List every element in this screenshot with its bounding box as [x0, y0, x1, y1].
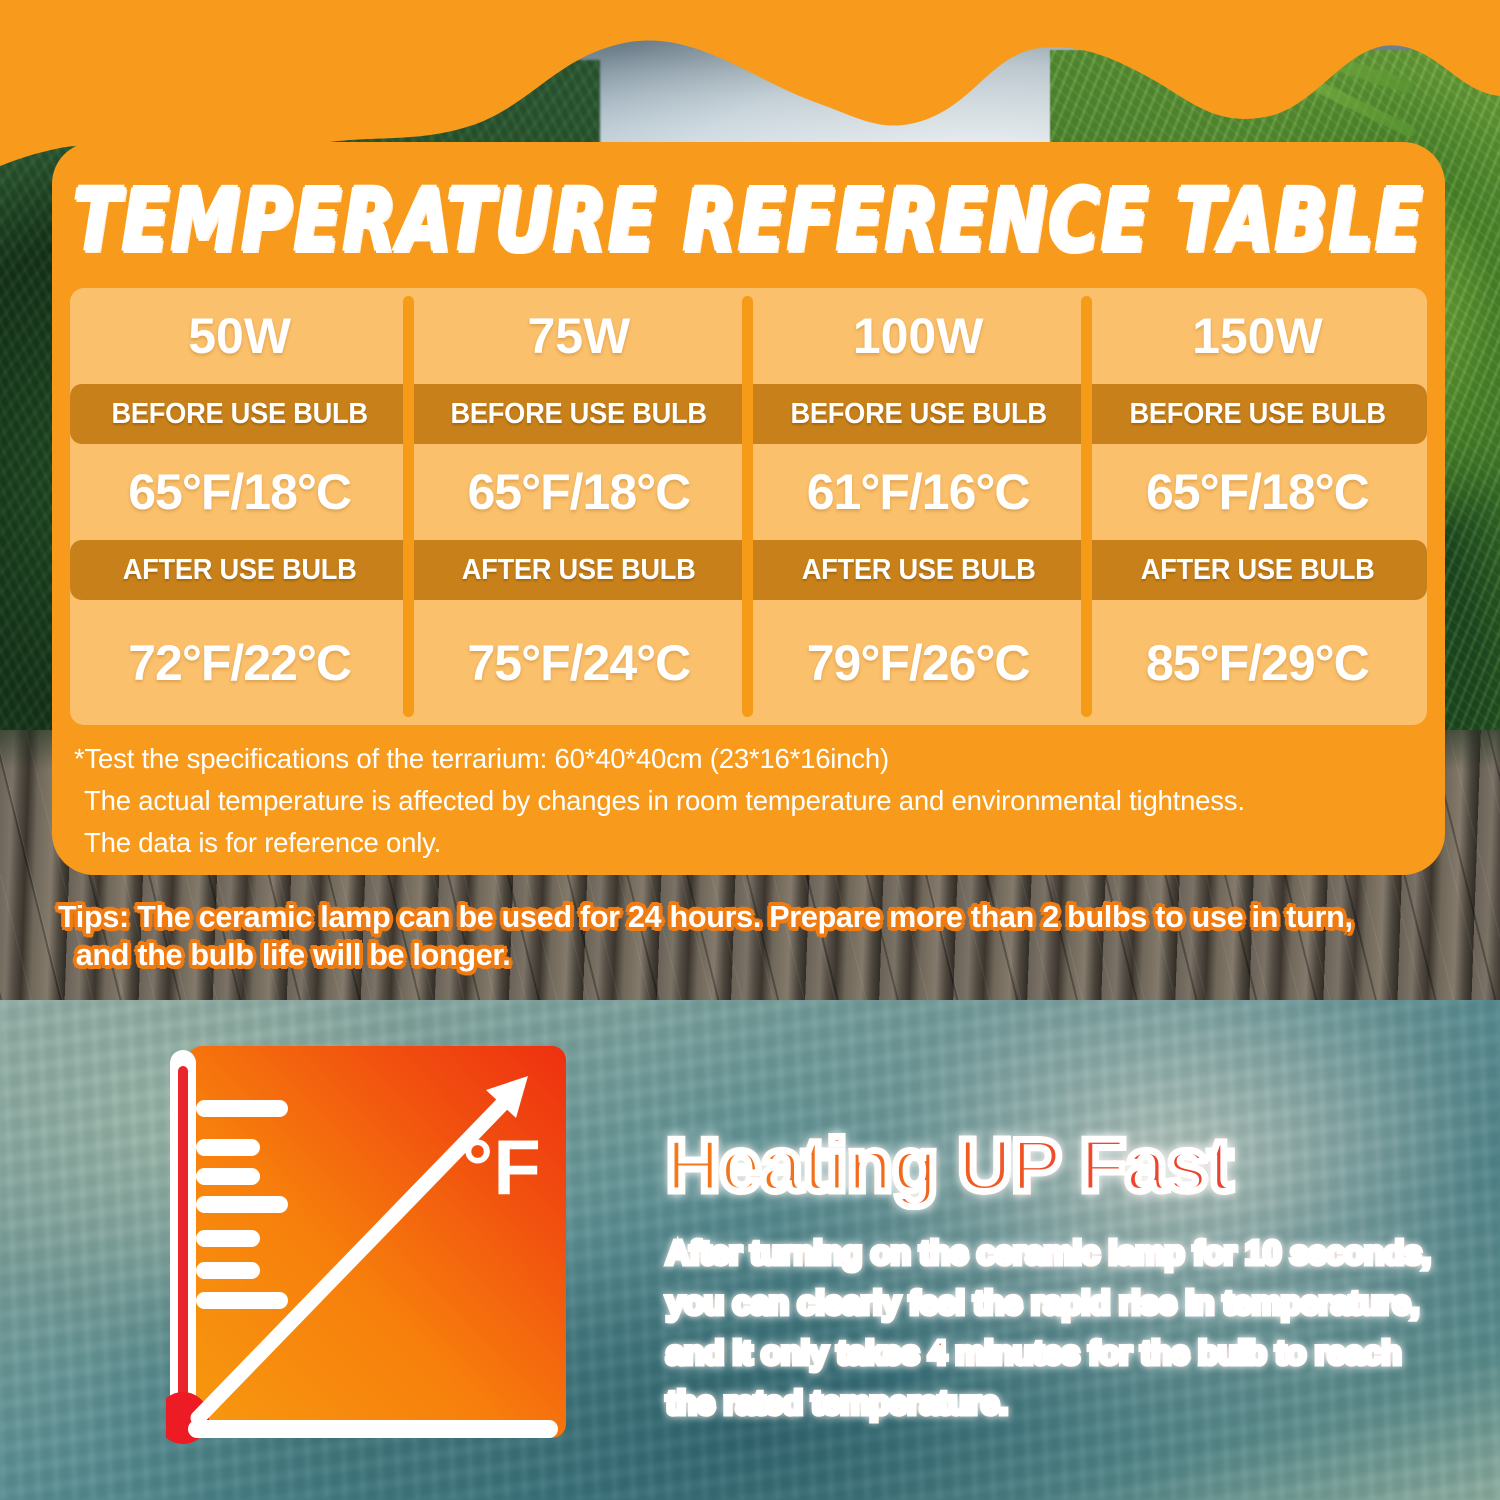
- column-divider-3: [1081, 296, 1092, 717]
- before-use-temp: 61°F/16°C: [749, 444, 1088, 540]
- after-use-label: AFTER USE BULB: [419, 540, 738, 600]
- footnote: *Test the specifications of the terrariu…: [74, 738, 1434, 864]
- before-use-label: BEFORE USE BULB: [80, 384, 399, 444]
- after-use-temp: 79°F/26°C: [749, 600, 1088, 725]
- after-use-temp: 72°F/22°C: [70, 600, 409, 725]
- before-use-temp: 65°F/18°C: [70, 444, 409, 540]
- body-line-1: After turning on the ceramic lamp for 10…: [666, 1228, 1446, 1278]
- table-column-50w: 50W BEFORE USE BULB 65°F/18°C AFTER USE …: [70, 288, 409, 725]
- wattage-label: 100W: [749, 288, 1088, 384]
- tips-text: Tips: The ceramic lamp can be used for 2…: [58, 898, 1437, 974]
- wattage-label: 150W: [1088, 288, 1427, 384]
- after-use-label: AFTER USE BULB: [80, 540, 399, 600]
- footnote-line-3: The data is for reference only.: [74, 822, 1434, 864]
- tick-mark-long-2: [196, 1196, 288, 1213]
- wattage-label: 75W: [409, 288, 748, 384]
- temperature-table: 50W BEFORE USE BULB 65°F/18°C AFTER USE …: [70, 288, 1427, 725]
- after-use-label: AFTER USE BULB: [1098, 540, 1417, 600]
- column-divider-1: [403, 296, 414, 717]
- bottom-body-text: After turning on the ceramic lamp for 10…: [666, 1228, 1446, 1428]
- tick-mark-long-3: [196, 1292, 288, 1309]
- thermometer-chart-icon: °F: [166, 1040, 572, 1452]
- column-divider-2: [742, 296, 753, 717]
- bottom-heading: Heating UP Fast: [666, 1122, 1232, 1208]
- wattage-label: 50W: [70, 288, 409, 384]
- footnote-line-1: *Test the specifications of the terrariu…: [74, 738, 1434, 780]
- body-line-4: the rated temperature.: [666, 1378, 1446, 1428]
- before-use-temp: 65°F/18°C: [409, 444, 748, 540]
- chart-baseline: [188, 1420, 558, 1438]
- temperature-reference-card: TEMPERATURE REFERENCE TABLE 50W BEFORE U…: [52, 142, 1445, 875]
- table-column-75w: 75W BEFORE USE BULB 65°F/18°C AFTER USE …: [409, 288, 748, 725]
- tick-mark-long-1: [196, 1100, 288, 1117]
- tick-mark-short-4: [196, 1262, 260, 1279]
- before-use-label: BEFORE USE BULB: [419, 384, 738, 444]
- before-use-temp: 65°F/18°C: [1088, 444, 1427, 540]
- top-section: TEMPERATURE REFERENCE TABLE 50W BEFORE U…: [0, 0, 1500, 1000]
- product-infographic: TEMPERATURE REFERENCE TABLE 50W BEFORE U…: [0, 0, 1500, 1500]
- tick-mark-short-2: [196, 1168, 260, 1185]
- body-line-3: and it only takes 4 minutes for the bulb…: [666, 1328, 1446, 1378]
- after-use-temp: 85°F/29°C: [1088, 600, 1427, 725]
- footnote-line-2: The actual temperature is affected by ch…: [74, 780, 1434, 822]
- after-use-temp: 75°F/24°C: [409, 600, 748, 725]
- before-use-label: BEFORE USE BULB: [759, 384, 1078, 444]
- body-line-2: you can clearly feel the rapid rise in t…: [666, 1278, 1446, 1328]
- thermometer-mercury: [178, 1066, 188, 1418]
- unit-label-fahrenheit: °F: [462, 1123, 541, 1211]
- tips-line-2: and the bulb life will be longer.: [58, 936, 1437, 974]
- tick-mark-short-1: [196, 1139, 260, 1156]
- tips-line-1: Tips: The ceramic lamp can be used for 2…: [58, 898, 1437, 936]
- table-column-100w: 100W BEFORE USE BULB 61°F/16°C AFTER USE…: [749, 288, 1088, 725]
- tick-mark-short-3: [196, 1230, 260, 1247]
- page-title: TEMPERATURE REFERENCE TABLE: [73, 170, 1424, 271]
- before-use-label: BEFORE USE BULB: [1098, 384, 1417, 444]
- after-use-label: AFTER USE BULB: [759, 540, 1078, 600]
- table-column-150w: 150W BEFORE USE BULB 65°F/18°C AFTER USE…: [1088, 288, 1427, 725]
